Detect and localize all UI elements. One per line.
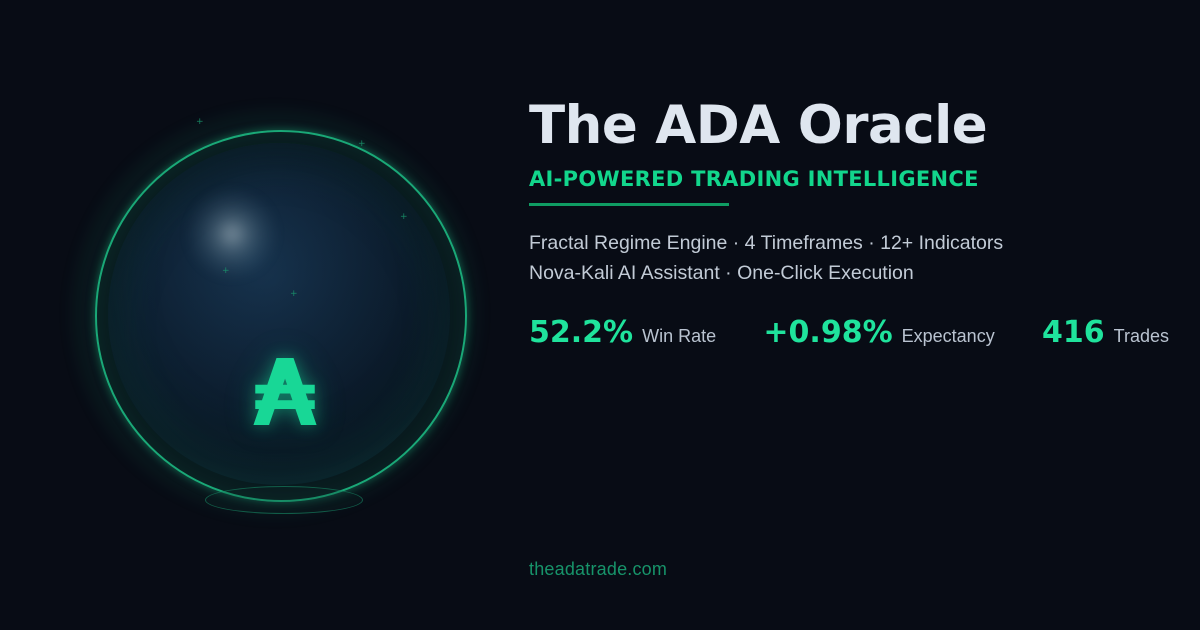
site-url-link[interactable]: theadatrade.com: [529, 558, 667, 580]
stat-value: 416: [1042, 316, 1105, 350]
sparkle-icon: +: [358, 140, 366, 149]
stat-win-rate: 52.2% Win Rate: [529, 316, 716, 353]
stat-value: 52.2%: [529, 316, 633, 350]
stat-label: Win Rate: [642, 319, 716, 353]
sparkle-icon: +: [290, 290, 298, 299]
feature-line: Fractal Regime Engine · 4 Timeframes · 1…: [529, 228, 1169, 258]
promo-banner: + + + + + ₳ The ADA Oracle AI-POWERED TR…: [0, 0, 1200, 630]
orb-specular-highlight: [188, 190, 276, 278]
crystal-ball-graphic: + + + + + ₳: [60, 90, 510, 550]
sparkle-icon: +: [222, 267, 230, 276]
title-divider: [529, 203, 729, 206]
ada-symbol-icon: ₳: [60, 348, 510, 440]
stat-value: +0.98%: [763, 316, 892, 350]
orb-pedestal-ellipse: [205, 486, 363, 514]
stat-label: Trades: [1114, 319, 1169, 353]
page-title: The ADA Oracle: [529, 96, 1169, 156]
stats-row: 52.2% Win Rate +0.98% Expectancy 416 Tra…: [529, 316, 1169, 353]
page-subtitle: AI-POWERED TRADING INTELLIGENCE: [529, 166, 1169, 192]
stat-label: Expectancy: [902, 319, 995, 353]
stat-trades: 416 Trades: [1042, 316, 1169, 353]
stat-expectancy: +0.98% Expectancy: [763, 316, 994, 353]
feature-line: Nova-Kali AI Assistant · One-Click Execu…: [529, 258, 1169, 288]
sparkle-icon: +: [196, 118, 204, 127]
sparkle-icon: +: [400, 213, 408, 222]
feature-list: Fractal Regime Engine · 4 Timeframes · 1…: [529, 228, 1169, 288]
content-column: The ADA Oracle AI-POWERED TRADING INTELL…: [529, 96, 1169, 353]
